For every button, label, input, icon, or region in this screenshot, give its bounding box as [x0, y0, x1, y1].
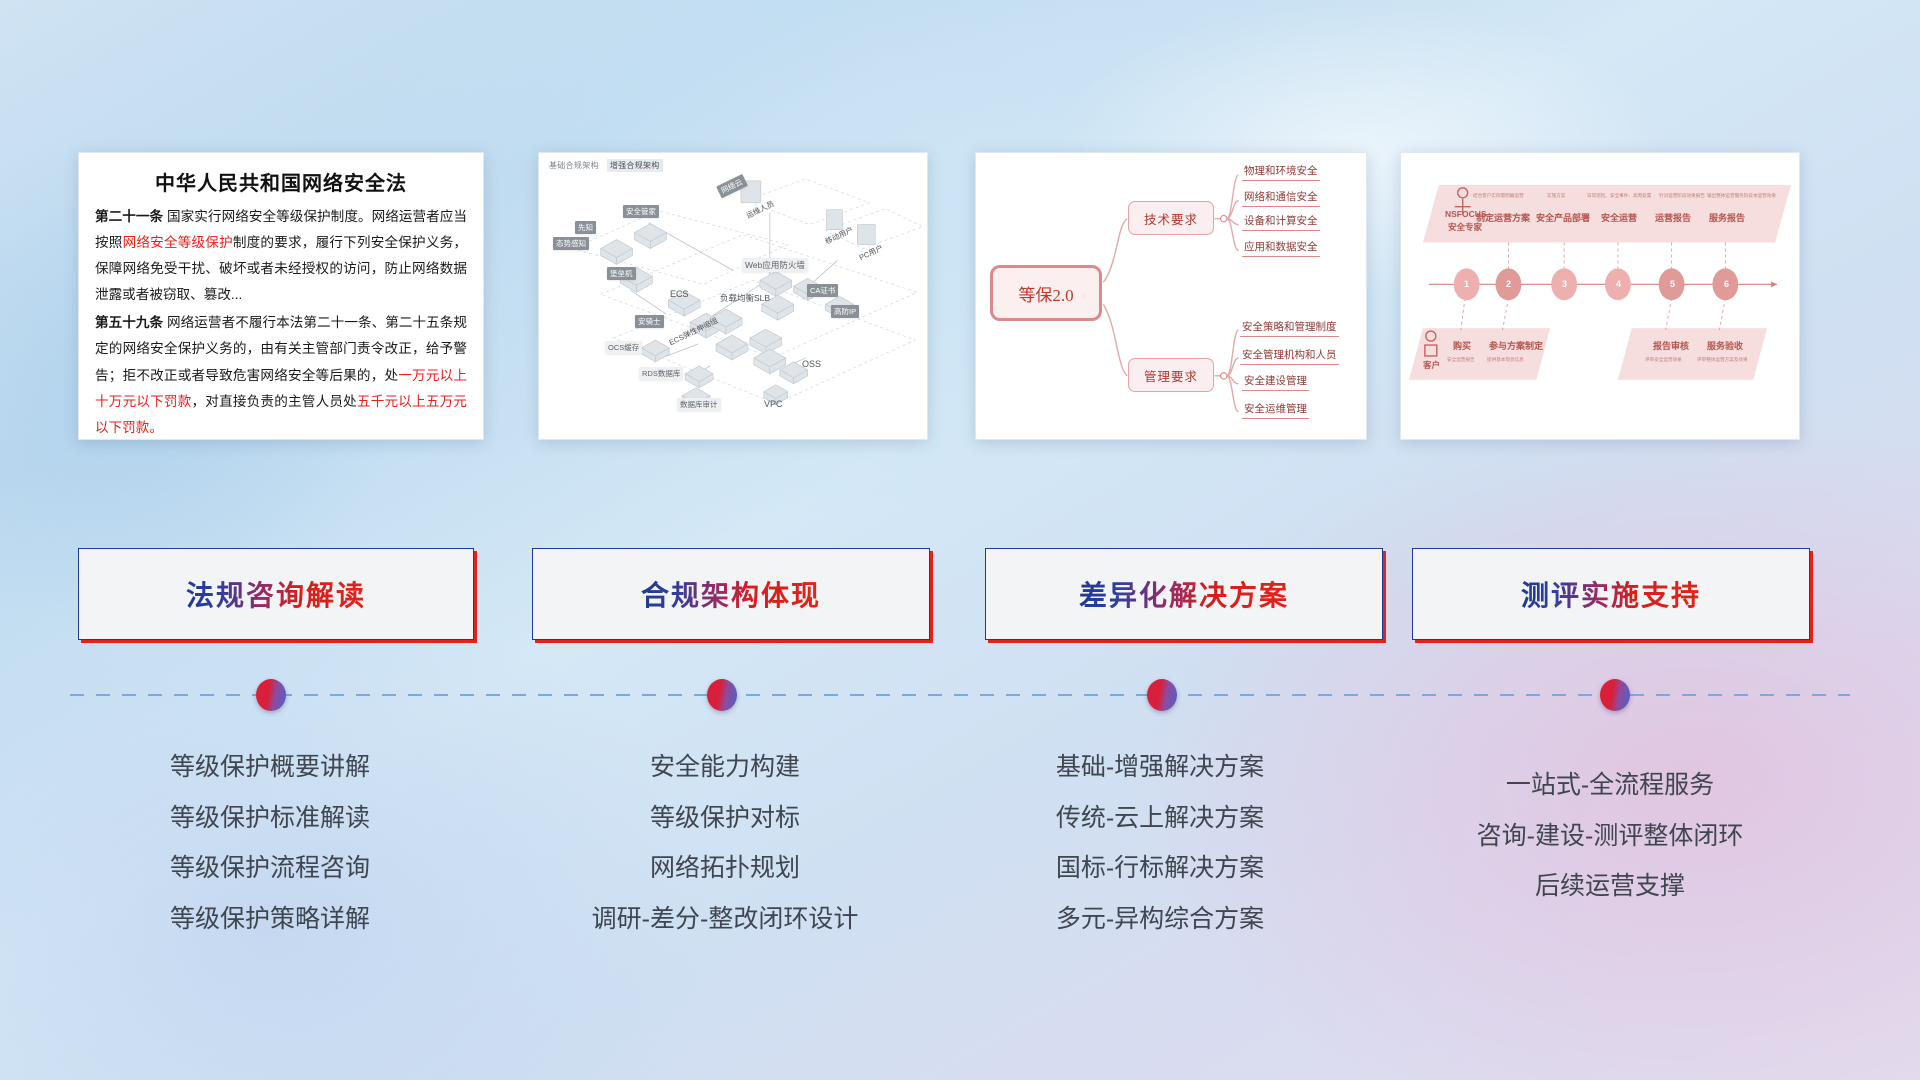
nsfocus-step-number-3: 3 [1562, 279, 1567, 289]
arch-node-security-manager: 安全管家 [623, 205, 659, 218]
timeline-dot-2 [707, 679, 737, 711]
nsfocus-top-title-5: 服务报告 [1709, 211, 1745, 224]
list-item: 国标-行标解决方案 [950, 843, 1370, 894]
law-article-number-2: 第五十九条 [95, 315, 163, 330]
nsfocus-top-title-3: 安全运营 [1601, 211, 1637, 224]
timeline-dot-1 [256, 679, 286, 711]
column-list-3: 基础-增强解决方案 传统-云上解决方案 国标-行标解决方案 多元-异构综合方案 [950, 742, 1370, 944]
arch-node-ocs-cache: OCS缓存 [605, 341, 642, 354]
arch-node-situational-awareness: 态势感知 [553, 237, 589, 250]
mindmap-leaf-org-personnel: 安全管理机构和人员 [1240, 347, 1339, 365]
nsfocus-bottom-title-2: 参与方案制定 [1489, 339, 1543, 352]
card-cloud-architecture: 基础合规架构增强合规架构 [538, 152, 928, 440]
nsfocus-customer-label: 客户 [1423, 359, 1440, 371]
mindmap-leaf-device-compute: 设备和计算安全 [1242, 213, 1320, 231]
law-body: 第二十一条 国家实行网络安全等级保护制度。网络运营者应当按照网络安全等级保护制度… [79, 196, 483, 440]
nsfocus-top-sub-4: 针对运营阶段效果报告 [1659, 193, 1705, 199]
list-item: 一站式-全流程服务 [1400, 760, 1820, 811]
mindmap-leaf-network-comm: 网络和通信安全 [1242, 189, 1320, 207]
nsfocus-top-title-1: 制定运营方案 [1476, 211, 1530, 224]
pill-regulation-consulting[interactable]: 法规咨询解读 [78, 548, 474, 640]
mindmap-leaf-policy-system: 安全策略和管理制度 [1240, 319, 1339, 337]
arch-node-security-guard: 安骑士 [635, 315, 664, 328]
nsfocus-bottom-sub-1: 安全运营报告 [1447, 357, 1475, 363]
mindmap-branch-technical: 技术要求 [1128, 201, 1214, 235]
pill-compliance-architecture[interactable]: 合规架构体现 [532, 548, 930, 640]
list-item: 基础-增强解决方案 [950, 742, 1370, 793]
list-item: 安全能力构建 [515, 742, 935, 793]
arch-node-rds-database: RDS数据库 [639, 367, 683, 380]
arch-node-ecs: ECS [667, 288, 692, 300]
nsfocus-top-sub-3: 日常巡检、安全事件、高周处置 [1587, 193, 1651, 199]
list-item: 等级保护策略详解 [60, 894, 480, 945]
mindmap-root-node: 等保2.0 [990, 265, 1102, 321]
list-item: 咨询-建设-测评整体闭环 [1400, 811, 1820, 862]
arch-node-slb: 负载均衡SLB [717, 291, 773, 305]
pill-label-1: 法规咨询解读 [186, 574, 366, 614]
law-paragraph-1: 第二十一条 国家实行网络安全等级保护制度。网络运营者应当按照网络安全等级保护制度… [95, 204, 467, 308]
card-mindmap: 等保2.0 技术要求 管理要求 物理和环境安全 网络和通信安全 设备和计算安全 … [975, 152, 1367, 440]
cards-row: 中华人民共和国网络安全法 第二十一条 国家实行网络安全等级保护制度。网络运营者应… [0, 0, 1920, 450]
law-paragraph-2: 第五十九条 网络运营者不履行本法第二十一条、第二十五条规定的网络安全保护义务的，… [95, 310, 467, 440]
list-item: 调研-差分-整改闭环设计 [515, 894, 935, 945]
pill-label-3: 差异化解决方案 [1079, 574, 1289, 614]
mindmap-leaf-physical-env: 物理和环境安全 [1242, 163, 1320, 181]
nsfocus-top-sub-1: 结合客户实际需明确运营 [1473, 193, 1524, 199]
mindmap-branch-management: 管理要求 [1128, 358, 1214, 392]
pill-differentiated-solution[interactable]: 差异化解决方案 [985, 548, 1383, 640]
nsfocus-top-title-4: 运营报告 [1655, 211, 1691, 224]
law-title: 中华人民共和国网络安全法 [79, 167, 483, 196]
nsfocus-step-number-4: 4 [1616, 279, 1621, 289]
arch-node-waf: Web应用防火墙 [742, 258, 808, 272]
mindmap-leaf-ops-mgmt: 安全运维管理 [1242, 401, 1309, 419]
column-list-2: 安全能力构建 等级保护对标 网络拓扑规划 调研-差分-整改闭环设计 [515, 742, 935, 944]
nsfocus-bottom-title-3: 报告审核 [1653, 339, 1689, 352]
mindmap-leaf-app-data: 应用和数据安全 [1242, 239, 1320, 257]
law-highlight-1: 网络安全等级保护 [123, 235, 233, 250]
list-item: 后续运营支撑 [1400, 861, 1820, 912]
arch-node-anti-ddos-ip: 高防IP [831, 305, 859, 318]
arch-node-prophet: 先知 [575, 221, 596, 234]
nsfocus-top-sub-2: 实施方案 [1547, 193, 1565, 199]
list-item: 多元-异构综合方案 [950, 894, 1370, 945]
arch-node-bastion-host: 堡垒机 [607, 267, 636, 280]
law-article-number-1: 第二十一条 [95, 209, 163, 224]
arch-node-db-audit: 数据库审计 [677, 398, 721, 411]
nsfocus-step-number-6: 6 [1724, 279, 1729, 289]
nsfocus-step-number-1: 1 [1464, 279, 1469, 289]
arch-node-ca-cert: CA证书 [807, 284, 838, 297]
nsfocus-bottom-title-1: 购买 [1453, 339, 1471, 352]
arch-node-vpc: VPC [761, 398, 786, 410]
list-item: 网络拓扑规划 [515, 843, 935, 894]
mindmap-diagram: 等保2.0 技术要求 管理要求 物理和环境安全 网络和通信安全 设备和计算安全 … [976, 153, 1366, 439]
nsfocus-diagram: NSFOCUS 安全专家 客户 结合客户实际需明确运营 制定运营方案 实施方案 … [1401, 153, 1799, 439]
nsfocus-bottom-title-4: 服务验收 [1707, 339, 1743, 352]
nsfocus-top-title-2: 安全产品部署 [1536, 211, 1590, 224]
list-item: 等级保护标准解读 [60, 793, 480, 844]
timeline-dot-3 [1147, 679, 1177, 711]
column-list-1: 等级保护概要讲解 等级保护标准解读 等级保护流程咨询 等级保护策略详解 [60, 742, 480, 944]
mindmap-leaf-construction-mgmt: 安全建设管理 [1242, 373, 1309, 391]
nsfocus-bottom-sub-2: 提供基本现状信息 [1487, 357, 1524, 363]
timeline-dashed-line [70, 694, 1850, 696]
nsfocus-bottom-sub-3: 评审安全运营效果 [1645, 357, 1682, 363]
card-law-document: 中华人民共和国网络安全法 第二十一条 国家实行网络安全等级保护制度。网络运营者应… [78, 152, 484, 440]
arch-node-oss: OSS [799, 358, 824, 370]
nsfocus-step-number-2: 2 [1506, 279, 1511, 289]
list-item: 等级保护对标 [515, 793, 935, 844]
architecture-diagram: 基础合规架构增强合规架构 [539, 153, 927, 439]
law-text-2b: ，对直接负责的主管人员处 [192, 394, 357, 409]
pill-label-4: 测评实施支持 [1521, 574, 1701, 614]
timeline-dot-4 [1600, 679, 1630, 711]
nsfocus-bottom-sub-4: 评审整体运营方案及效果 [1697, 357, 1748, 363]
list-item: 等级保护概要讲解 [60, 742, 480, 793]
column-list-4: 一站式-全流程服务 咨询-建设-测评整体闭环 后续运营支撑 [1400, 760, 1820, 912]
nsfocus-step-number-5: 5 [1670, 279, 1675, 289]
pill-assessment-support[interactable]: 测评实施支持 [1412, 548, 1810, 640]
list-item: 等级保护流程咨询 [60, 843, 480, 894]
pill-label-2: 合规架构体现 [641, 574, 821, 614]
list-item: 传统-云上解决方案 [950, 793, 1370, 844]
nsfocus-top-sub-5: 输出整体运营服务阶段本运营效果 [1707, 193, 1776, 199]
card-nsfocus-timeline: NSFOCUS 安全专家 客户 结合客户实际需明确运营 制定运营方案 实施方案 … [1400, 152, 1800, 440]
